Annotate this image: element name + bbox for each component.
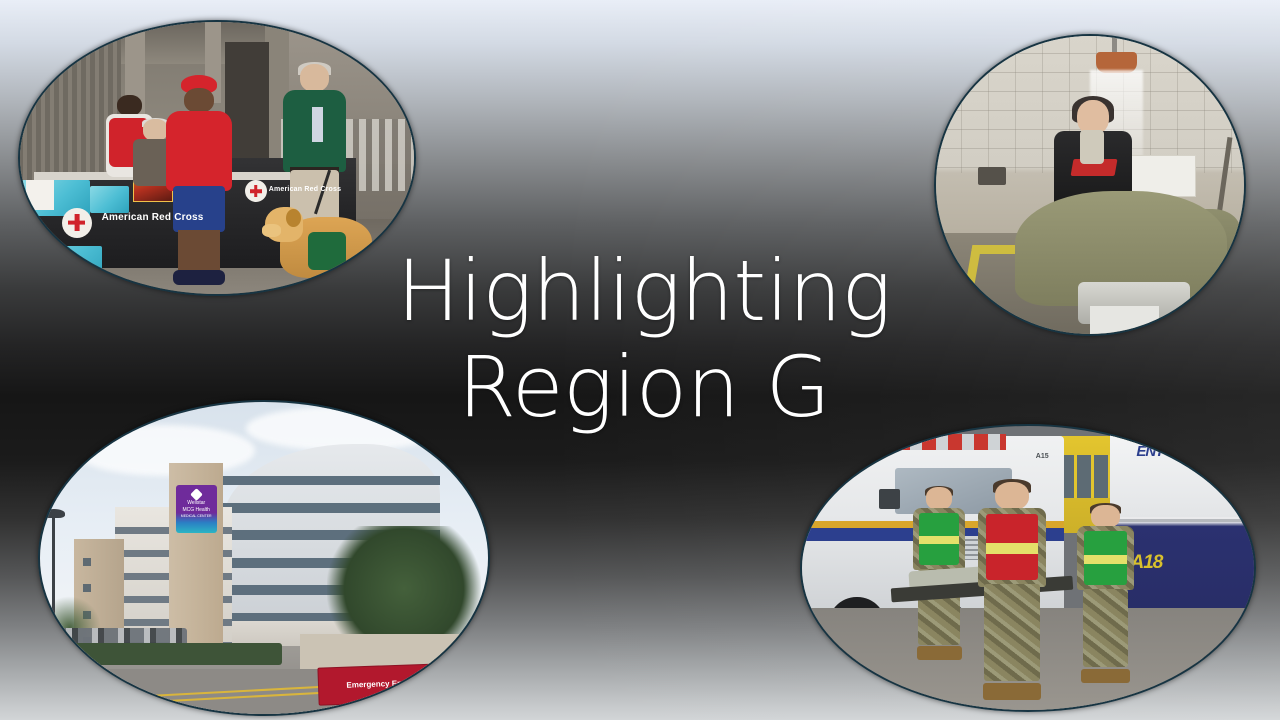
shoes xyxy=(173,270,224,285)
photo-scene xyxy=(934,34,1246,336)
window xyxy=(83,558,91,566)
red-cross-banner-text-2: American Red Cross xyxy=(269,186,341,193)
volunteer-in-red-shirt xyxy=(161,75,237,285)
van-brand-text: ENT xyxy=(1136,443,1163,460)
photo-scene: A15 ENT A18 xyxy=(800,424,1256,712)
ambulance-unit-number: A15 xyxy=(1036,453,1049,460)
window xyxy=(83,584,91,592)
boots xyxy=(983,683,1042,701)
emergency-entrance-sign: Emergency Enter Here xyxy=(318,663,473,706)
street-lamp xyxy=(52,514,55,621)
reflective-stripe xyxy=(919,536,959,544)
side-mirror xyxy=(879,489,900,509)
water-bottle-pallet xyxy=(90,186,130,214)
wall-fixture xyxy=(978,167,1006,185)
slide-title: Highlighting Region G xyxy=(356,244,932,436)
title-line-1: Highlighting xyxy=(356,244,932,340)
head xyxy=(926,487,952,509)
boots xyxy=(917,646,962,660)
emergency-lightbar xyxy=(858,434,1006,450)
red-cross-logo-icon xyxy=(245,180,267,202)
brand-line-1: Wellstar xyxy=(187,500,205,506)
medical-cross-icon xyxy=(449,676,462,689)
red-cross-logo-icon xyxy=(62,208,92,238)
service-dog-vest xyxy=(308,232,347,270)
towel xyxy=(1080,130,1104,165)
title-line-2: Region G xyxy=(356,340,932,436)
reflective-stripe xyxy=(986,543,1039,554)
boots xyxy=(1081,669,1130,683)
head xyxy=(184,88,214,113)
camouflage-trousers xyxy=(984,584,1040,680)
brand-line-2: MCG Health xyxy=(182,507,210,513)
photo-scene: Wellstar MCG Health MEDICAL CENTER Emerg… xyxy=(38,400,490,716)
red-safety-vest xyxy=(986,514,1039,580)
id-badge xyxy=(312,107,323,141)
red-tshirt xyxy=(166,111,233,191)
cloud xyxy=(74,425,255,476)
military-medics-stretcher-photo[interactable]: A15 ENT A18 xyxy=(800,424,1256,712)
paper-sign xyxy=(26,180,54,210)
reflective-stripe xyxy=(1084,555,1127,564)
dog-snout xyxy=(262,224,281,237)
emergency-sign-text: Emergency Enter Here xyxy=(347,679,433,691)
camouflage-trousers xyxy=(1083,589,1129,668)
green-safety-vest xyxy=(919,513,959,565)
head xyxy=(117,95,142,117)
window-band xyxy=(223,503,440,513)
head xyxy=(300,64,330,92)
brand-line-3: MEDICAL CENTER xyxy=(181,514,212,518)
hospital-campus-photo[interactable]: Wellstar MCG Health MEDICAL CENTER Emerg… xyxy=(38,400,490,716)
blue-shorts xyxy=(173,186,224,232)
decontamination-shower-photo[interactable] xyxy=(934,34,1246,336)
water-bottle-pallet xyxy=(22,246,102,285)
head xyxy=(995,482,1029,510)
green-safety-vest xyxy=(1084,531,1127,585)
legs xyxy=(178,230,220,272)
slide-canvas: American Red Cross American Red Cross xyxy=(0,0,1280,720)
white-sheet xyxy=(1090,306,1159,336)
hospital-brand-sign: Wellstar MCG Health MEDICAL CENTER xyxy=(176,485,217,532)
soldier-green-vest-2 xyxy=(1074,505,1138,684)
head xyxy=(1091,505,1119,528)
window-band xyxy=(223,476,440,486)
soldier-red-vest xyxy=(973,482,1051,701)
wellstar-diamond-icon xyxy=(190,488,203,501)
hedge-row xyxy=(47,643,282,665)
red-cross-banner-text: American Red Cross xyxy=(102,213,204,224)
